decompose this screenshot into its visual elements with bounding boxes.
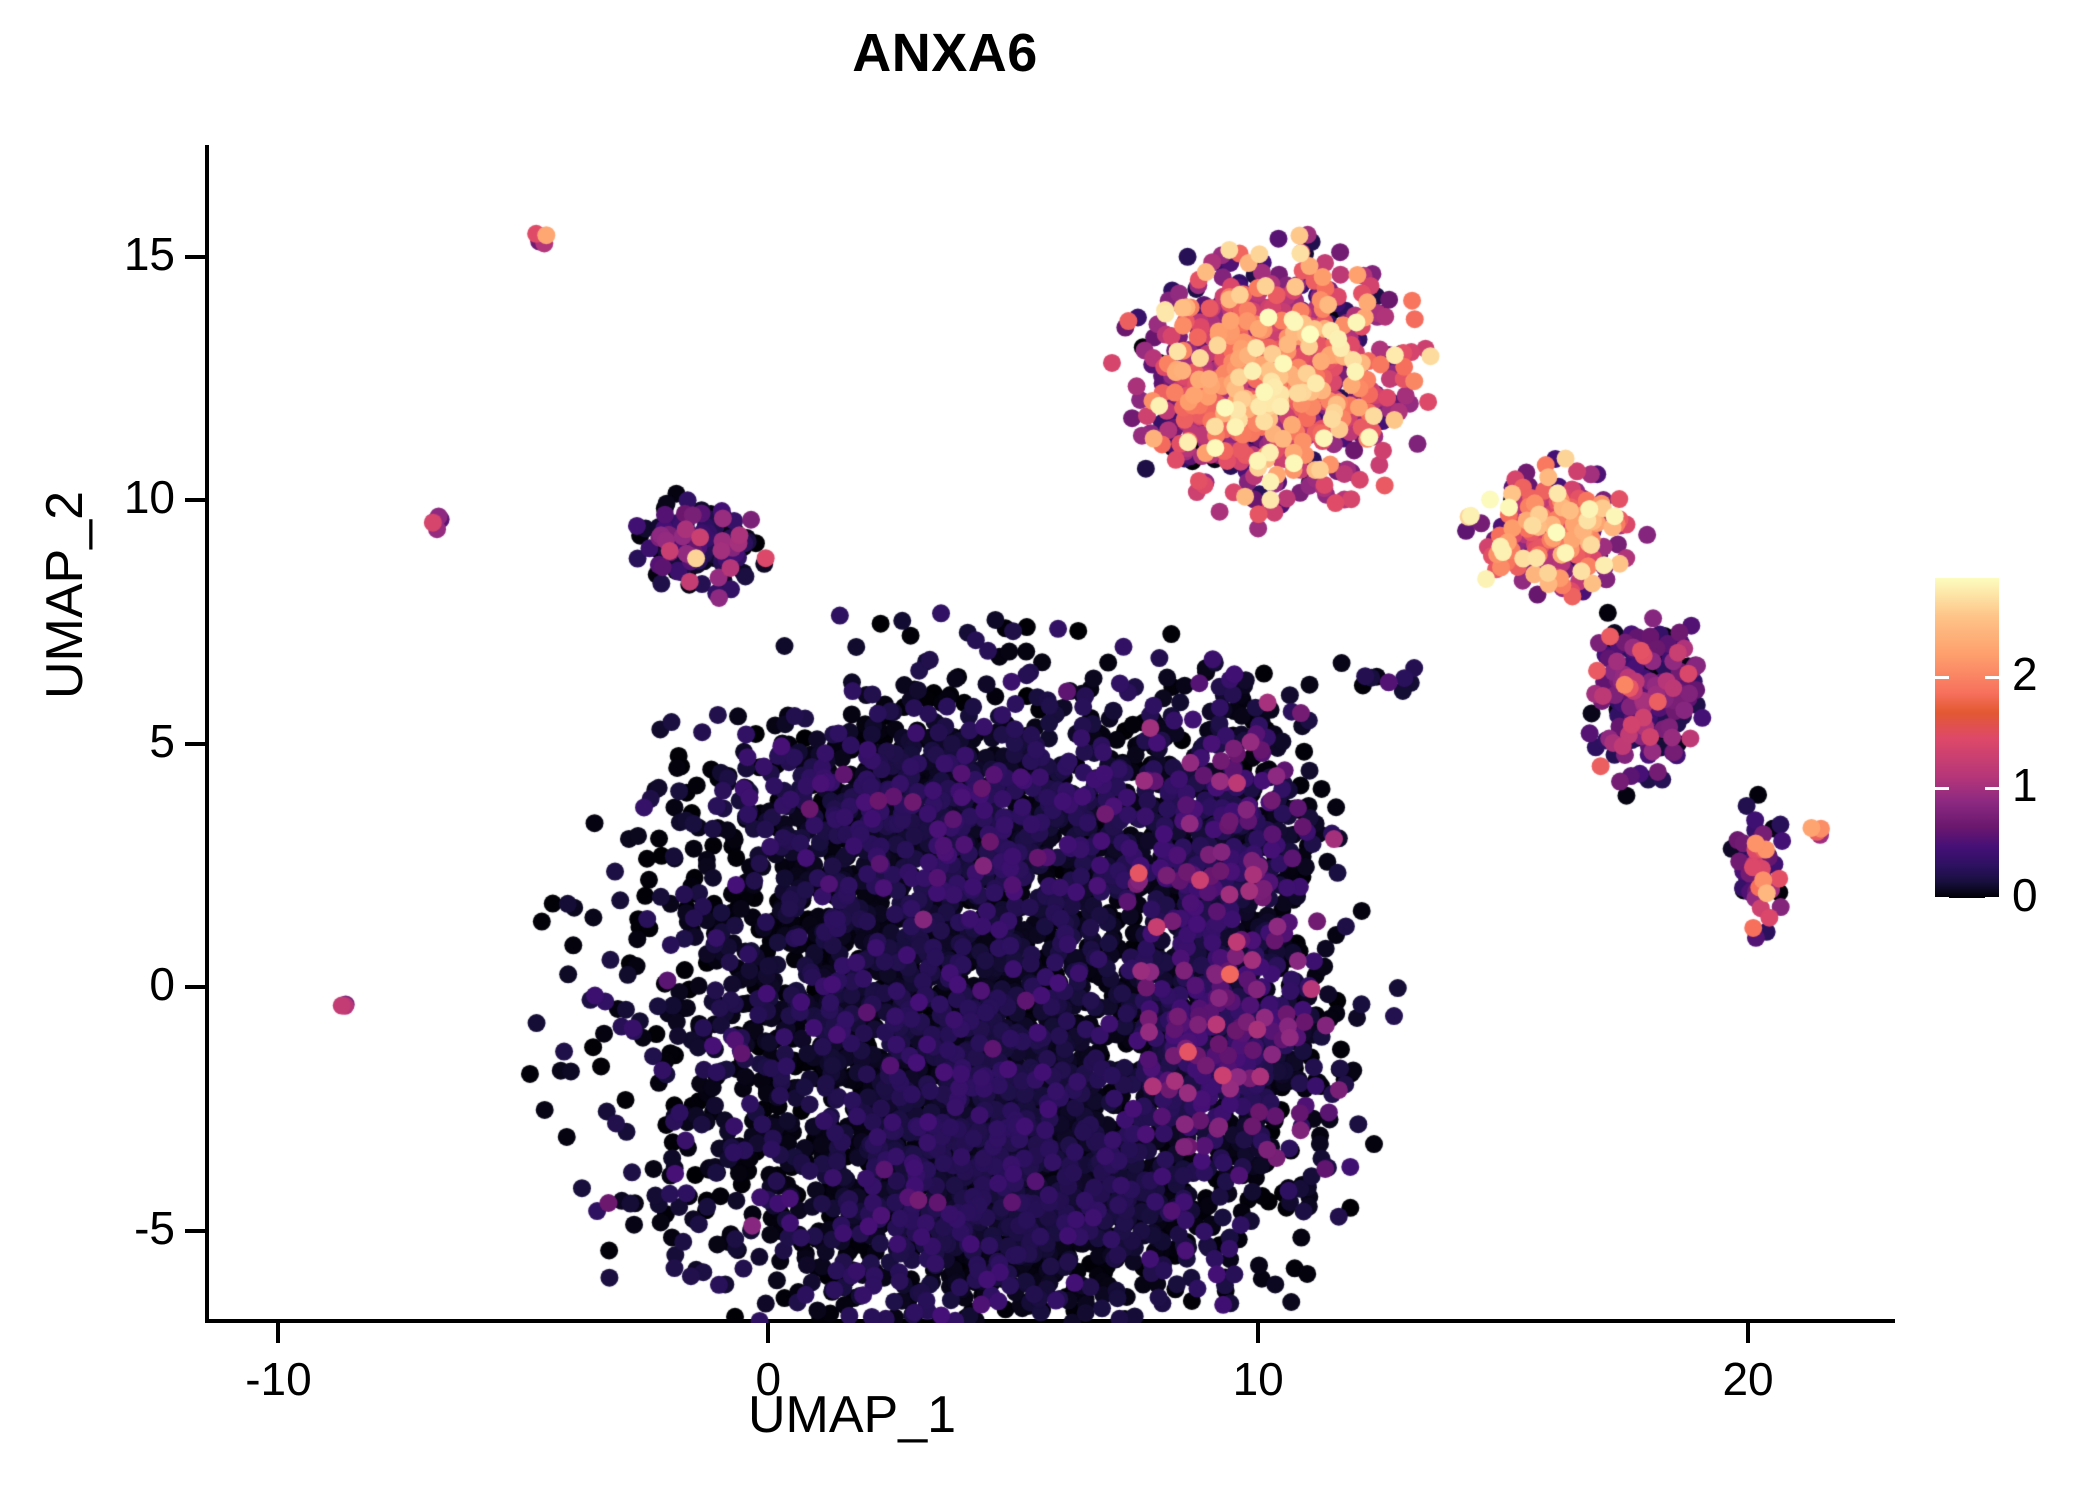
x-tick-mark xyxy=(766,1323,770,1343)
y-tick-label: 5 xyxy=(25,714,175,768)
colorbar-tick-mark xyxy=(1985,676,1999,679)
y-tick-label: 10 xyxy=(25,470,175,524)
colorbar-tick-mark xyxy=(1935,897,1949,900)
colorbar-tick-mark xyxy=(1935,676,1949,679)
y-tick-mark xyxy=(185,1229,205,1233)
x-tick-label: -10 xyxy=(178,1352,378,1406)
colorbar-tick-mark xyxy=(1985,897,1999,900)
y-tick-label: 0 xyxy=(25,957,175,1011)
y-tick-mark xyxy=(185,498,205,502)
y-tick-mark xyxy=(185,985,205,989)
colorbar-tick-label: 0 xyxy=(2012,868,2092,922)
umap-feature-plot: ANXA6 UMAP_2 UMAP_1 -5051015 -1001020 01… xyxy=(0,0,2100,1500)
x-tick-label: 10 xyxy=(1158,1352,1358,1406)
colorbar-tick-label: 1 xyxy=(2012,758,2092,812)
x-tick-mark xyxy=(1256,1323,1260,1343)
x-tick-mark xyxy=(1746,1323,1750,1343)
colorbar-tick-mark xyxy=(1935,787,1949,790)
x-tick-label: 0 xyxy=(668,1352,868,1406)
y-tick-mark xyxy=(185,742,205,746)
x-tick-mark xyxy=(276,1323,280,1343)
colorbar-tick-mark xyxy=(1985,787,1999,790)
colorbar-gradient xyxy=(1935,578,1999,898)
x-tick-label: 20 xyxy=(1648,1352,1848,1406)
colorbar-tick-label: 2 xyxy=(2012,647,2092,701)
y-tick-label: 15 xyxy=(25,227,175,281)
y-axis-label: UMAP_2 xyxy=(35,315,95,875)
scatter-plot-canvas xyxy=(205,145,1895,1323)
y-tick-label: -5 xyxy=(25,1201,175,1255)
y-tick-mark xyxy=(185,255,205,259)
page-title: ANXA6 xyxy=(0,22,1890,84)
